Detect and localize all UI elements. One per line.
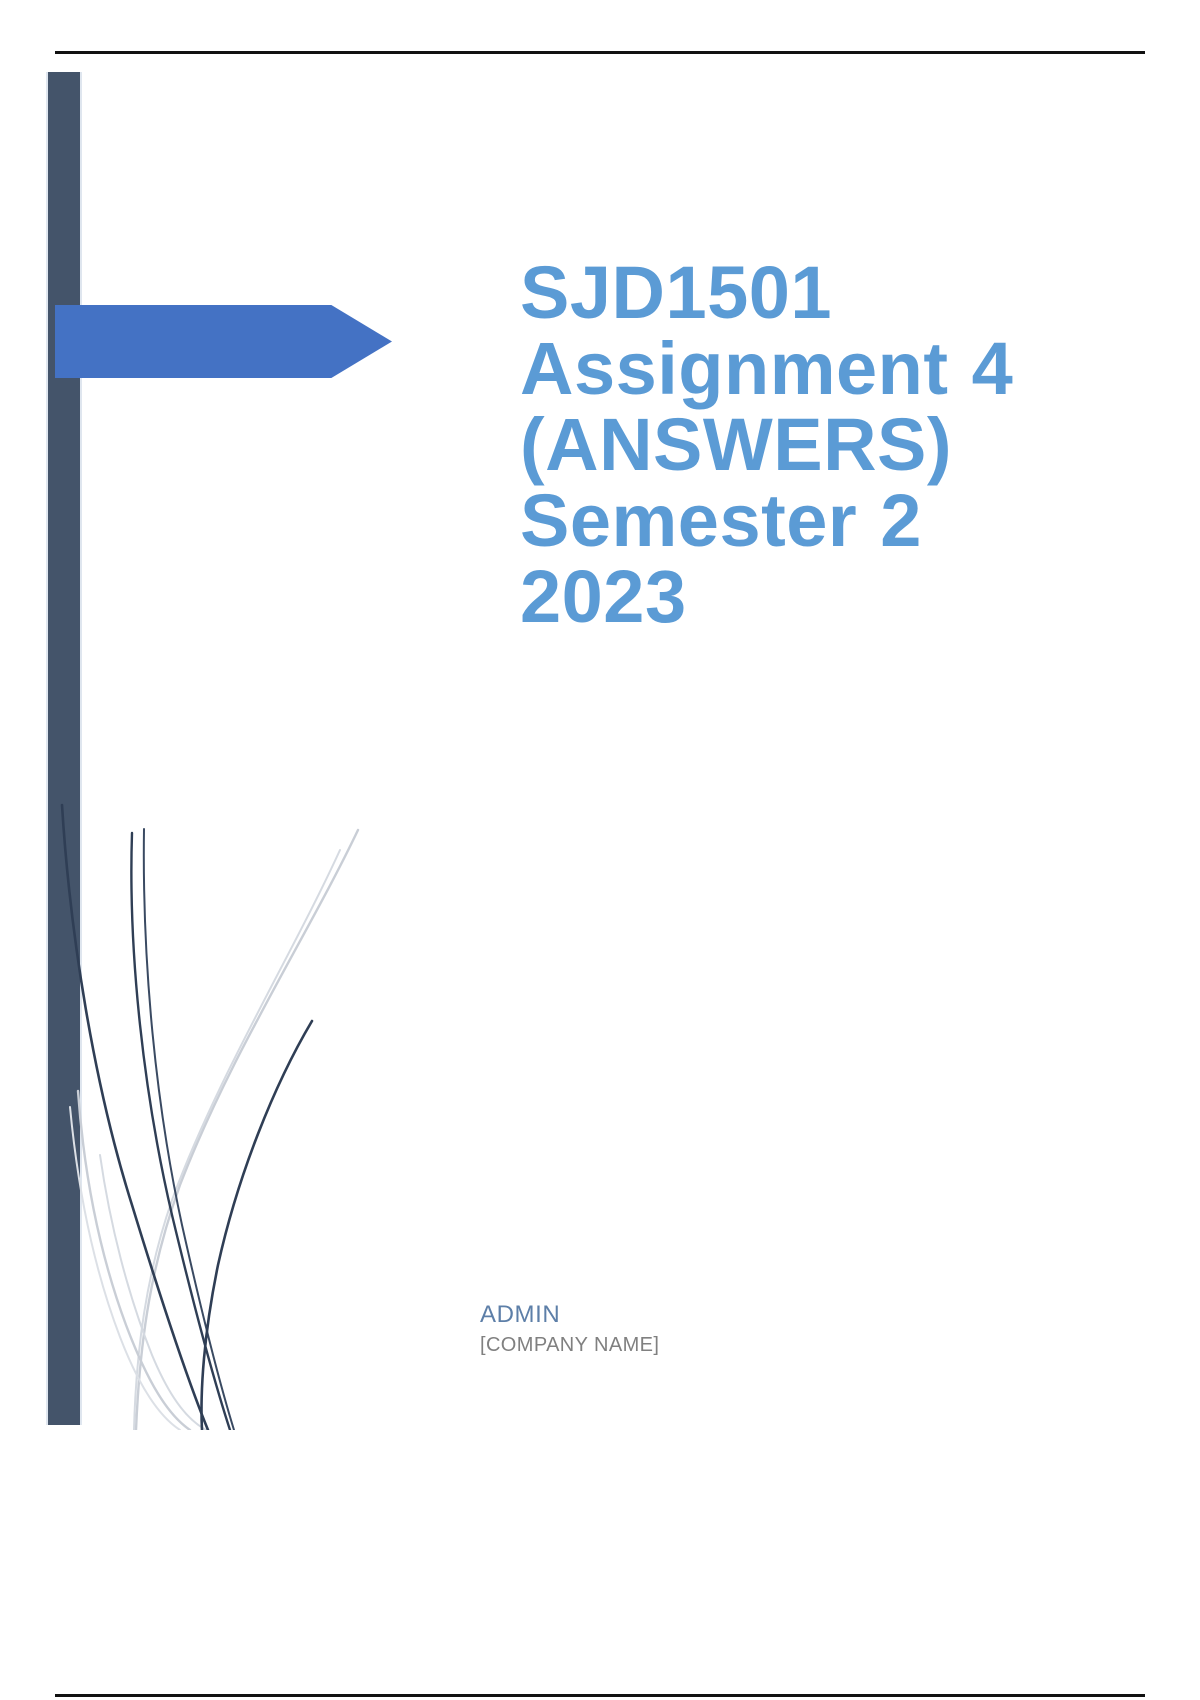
grass-lines-svg [40,755,400,1430]
arrow-banner [55,305,392,378]
company-name: [COMPANY NAME] [480,1332,900,1358]
page-title: SJD1501 Assignment 4 (ANSWERS) Semester … [520,255,1080,635]
cover-page-canvas: SJD1501 Assignment 4 (ANSWERS) Semester … [0,55,1200,1690]
grass-line-artwork [40,755,400,1430]
author-name: ADMIN [480,1300,900,1330]
page-top-rule [55,51,1145,54]
page-bottom-rule [55,1694,1145,1697]
vertical-accent-bar [48,72,80,1425]
author-block: ADMIN [COMPANY NAME] [480,1300,900,1358]
title-block: SJD1501 Assignment 4 (ANSWERS) Semester … [520,255,1080,635]
